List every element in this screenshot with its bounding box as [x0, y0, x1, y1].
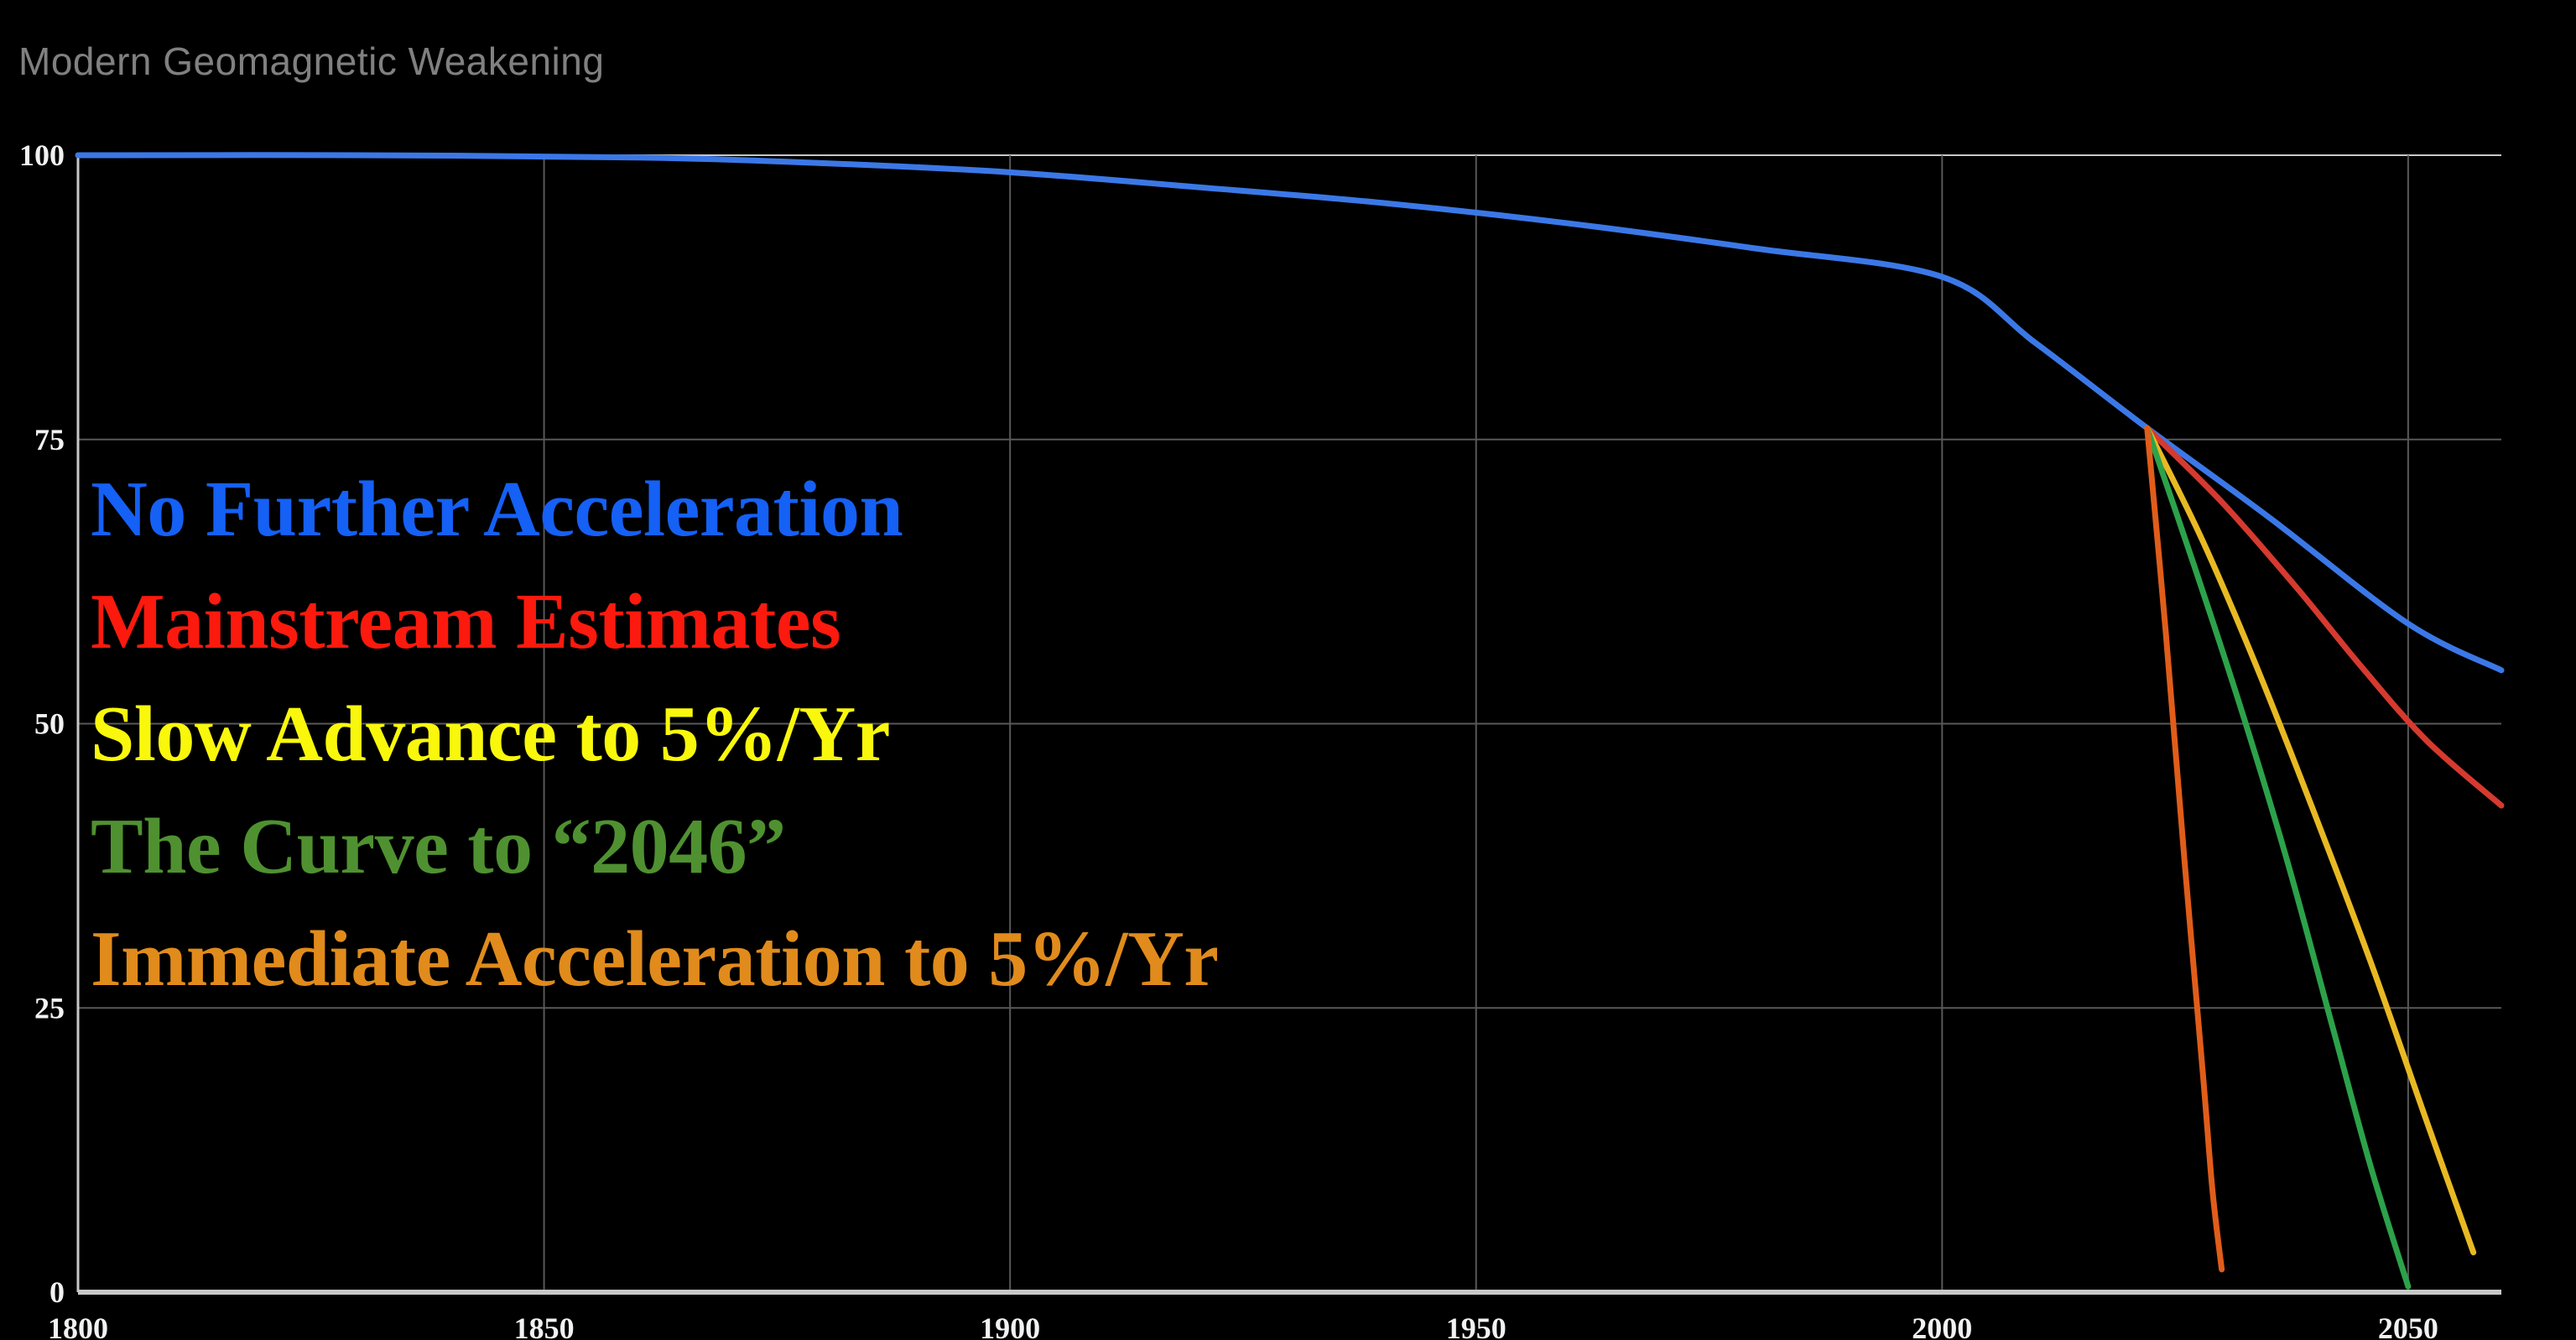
x-tick-label-1950: 1950 [1446, 1311, 1507, 1340]
legend-item-immediate-acceleration[interactable]: Immediate Acceleration to 5%/Yr [91, 903, 1218, 1015]
legend-item-curve-to-2046[interactable]: The Curve to “2046” [91, 790, 1218, 903]
y-tick-label-75: 75 [34, 423, 65, 456]
x-tick-label-2000: 2000 [1912, 1311, 1972, 1340]
legend-item-mainstream-estimates[interactable]: Mainstream Estimates [91, 566, 1218, 678]
x-tick-label-1900: 1900 [980, 1311, 1040, 1340]
y-tick-label-0: 0 [49, 1275, 65, 1309]
series-line-1 [2147, 428, 2501, 806]
legend: No Further Acceleration Mainstream Estim… [91, 453, 1218, 1015]
x-tick-label-1800: 1800 [48, 1311, 108, 1340]
chart-canvas: Modern Geomagnetic Weakening 0255075100 … [0, 0, 2576, 1340]
y-tick-label-50: 50 [34, 707, 65, 741]
legend-item-no-further-acceleration[interactable]: No Further Acceleration [91, 453, 1218, 566]
x-axis-tick-labels: 180018501900195020002050 [48, 1311, 2438, 1340]
y-tick-label-25: 25 [34, 991, 65, 1025]
legend-item-slow-advance[interactable]: Slow Advance to 5%/Yr [91, 678, 1218, 790]
y-axis-tick-labels: 0255075100 [19, 138, 65, 1309]
y-tick-label-100: 100 [19, 138, 65, 172]
x-tick-label-2050: 2050 [2378, 1311, 2438, 1340]
x-tick-label-1850: 1850 [514, 1311, 575, 1340]
